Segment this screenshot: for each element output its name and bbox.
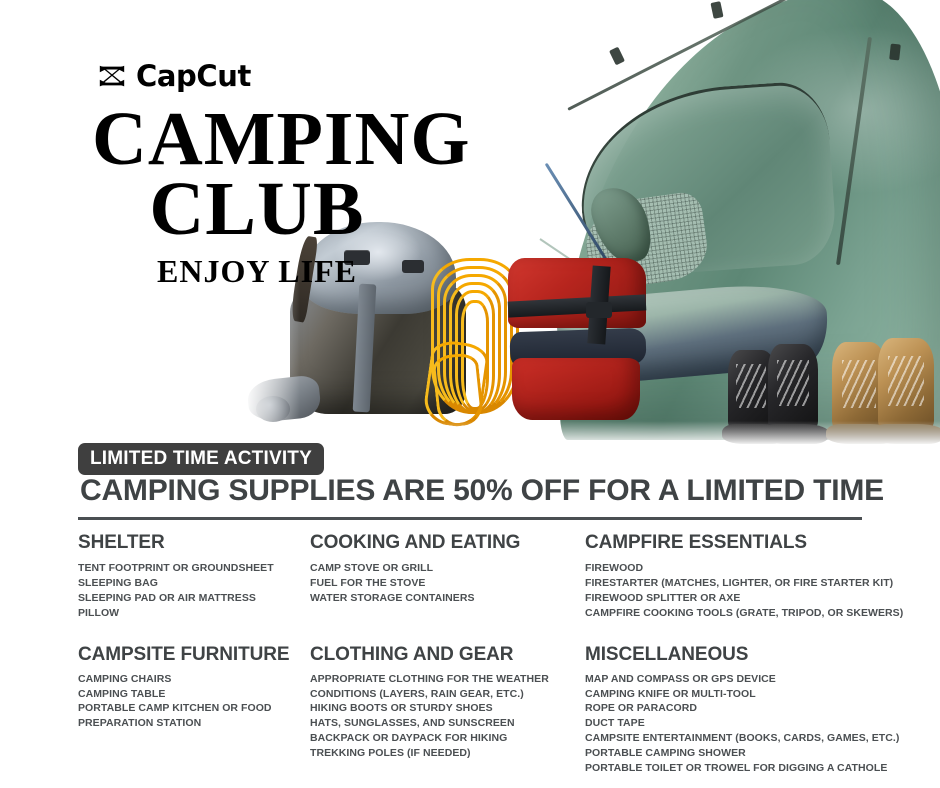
title-line-2: CLUB (92, 175, 422, 245)
boot-laces (777, 360, 809, 406)
list-item: SLEEPING PAD OR AIR MATTRESS (78, 591, 304, 606)
backpack-attached-gear (256, 396, 290, 422)
rope-loop (449, 282, 501, 414)
category-title: SHELTER (78, 533, 304, 552)
category-clothing-and-gear: CLOTHING AND GEAR APPROPRIATE CLOTHING F… (310, 645, 585, 776)
brand-lockup: CapCut (97, 61, 251, 91)
backpack-base-pad (246, 374, 322, 423)
category-cooking-and-eating: COOKING AND EATING CAMP STOVE OR GRILL F… (310, 533, 585, 621)
list-item: FIRESTARTER (MATCHES, LIGHTER, OR FIRE S… (585, 576, 862, 591)
backpack-compression-strap (353, 284, 377, 413)
boot-laces (736, 364, 766, 408)
boot-laces (842, 360, 876, 408)
divider (78, 517, 862, 520)
list-item: PILLOW (78, 606, 304, 621)
category-item-list: FIREWOOD FIRESTARTER (MATCHES, LIGHTER, … (585, 561, 862, 621)
category-campfire-essentials: CAMPFIRE ESSENTIALS FIREWOOD FIRESTARTER… (585, 533, 868, 621)
list-item: CAMP STOVE OR GRILL (310, 561, 579, 576)
tan-boot (878, 332, 940, 444)
list-item: FUEL FOR THE STOVE (310, 576, 579, 591)
tent-clip (889, 44, 901, 61)
list-item: HATS, SUNGLASSES, AND SUNSCREEN (310, 716, 579, 731)
tan-boot (832, 336, 894, 444)
category-item-list: CAMPING CHAIRS CAMPING TABLE PORTABLE CA… (78, 672, 304, 732)
duffel-clip (586, 302, 612, 318)
title-line-1: CAMPING (92, 105, 422, 175)
category-title: CAMPFIRE ESSENTIALS (585, 533, 862, 552)
rope-loop (461, 300, 489, 410)
list-item: FIREWOOD SPLITTER OR AXE (585, 591, 862, 606)
category-miscellaneous: MISCELLANEOUS MAP AND COMPASS OR GPS DEV… (585, 645, 868, 776)
list-item: CAMPING CHAIRS (78, 672, 304, 687)
category-title: CLOTHING AND GEAR (310, 645, 579, 664)
hiking-boots-image (728, 336, 938, 444)
list-item: WATER STORAGE CONTAINERS (310, 591, 579, 606)
boot-sole (872, 424, 940, 444)
hiking-backpack-image (290, 222, 470, 418)
list-item: CONDITIONS (LAYERS, RAIN GEAR, ETC.) (310, 687, 579, 702)
tent-door-flap (585, 180, 659, 270)
rope-loop (437, 266, 513, 414)
duffel-midsection (509, 328, 646, 369)
list-item: CAMPING TABLE (78, 687, 304, 702)
tent-floor (555, 278, 831, 387)
boot-sole (826, 424, 898, 444)
boot-laces (888, 356, 924, 406)
tent-image (560, 0, 940, 440)
page-title: CAMPING CLUB (92, 105, 422, 245)
rope-loop (431, 352, 484, 428)
supply-category-grid: SHELTER TENT FOOTPRINT OR GROUNDSHEET SL… (78, 533, 868, 776)
rope-loop (431, 258, 519, 414)
boot-shaft (832, 342, 886, 428)
tent-canopy (560, 0, 940, 440)
list-item: MAP AND COMPASS OR GPS DEVICE (585, 672, 862, 687)
list-item: APPROPRIATE CLOTHING FOR THE WEATHER (310, 672, 579, 687)
category-title: CAMPSITE FURNITURE (78, 645, 304, 664)
category-item-list: CAMP STOVE OR GRILL FUEL FOR THE STOVE W… (310, 561, 579, 606)
page-subtitle: ENJOY LIFE (92, 253, 422, 290)
rope-loop (421, 338, 490, 429)
camping-club-poster: CapCut CAMPING CLUB ENJOY LIFE LIMITED T… (0, 0, 940, 788)
brand-name: CapCut (136, 62, 251, 91)
backpack-body (290, 280, 466, 414)
list-item: PORTABLE CAMP KITCHEN OR FOOD (78, 701, 304, 716)
list-item: PORTABLE CAMPING SHOWER (585, 746, 862, 761)
tent-window-panel (574, 79, 838, 279)
list-item: DUCT TAPE (585, 716, 862, 731)
yellow-rope-coil-image (425, 258, 521, 422)
list-item: TENT FOOTPRINT OR GROUNDSHEET (78, 561, 304, 576)
list-item: BACKPACK OR DAYPACK FOR HIKING (310, 731, 579, 746)
tent-guy-line (539, 238, 598, 279)
list-item: CAMPING KNIFE OR MULTI-TOOL (585, 687, 862, 702)
list-item: FIREWOOD (585, 561, 862, 576)
black-boot (728, 342, 786, 444)
promo-headline: CAMPING SUPPLIES ARE 50% OFF FOR A LIMIT… (80, 474, 884, 508)
rope-loop (443, 274, 507, 414)
list-item: PORTABLE TOILET OR TROWEL FOR DIGGING A … (585, 761, 862, 776)
duffel-bottom (512, 358, 640, 420)
category-title: MISCELLANEOUS (585, 645, 862, 664)
boot-shaft (878, 338, 934, 428)
list-item: CAMPFIRE COOKING TOOLS (GRATE, TRIPOD, O… (585, 606, 862, 621)
boot-shaft (768, 344, 818, 428)
tent-ridge-seam (567, 0, 896, 111)
boot-shaft (728, 350, 776, 428)
tent-zipper (836, 37, 872, 265)
list-item: ROPE OR PARACORD (585, 701, 862, 716)
duffel-strap (508, 294, 647, 317)
tent-clip (710, 1, 723, 19)
tent-clip (609, 47, 625, 66)
category-item-list: MAP AND COMPASS OR GPS DEVICE CAMPING KN… (585, 672, 862, 776)
tent-pole (545, 163, 611, 266)
capcut-logo-icon (97, 61, 127, 91)
black-boot (768, 336, 826, 444)
category-item-list: TENT FOOTPRINT OR GROUNDSHEET SLEEPING B… (78, 561, 304, 621)
list-item: HIKING BOOTS OR STURDY SHOES (310, 701, 579, 716)
category-shelter: SHELTER TENT FOOTPRINT OR GROUNDSHEET SL… (78, 533, 310, 621)
red-duffel-bag-image (508, 258, 648, 420)
status-badge: LIMITED TIME ACTIVITY (78, 443, 324, 475)
list-item: TREKKING POLES (IF NEEDED) (310, 746, 579, 761)
category-title: COOKING AND EATING (310, 533, 579, 552)
list-item: SLEEPING BAG (78, 576, 304, 591)
duffel-top (508, 258, 646, 328)
duffel-strap (587, 265, 610, 344)
list-item: PREPARATION STATION (78, 716, 304, 731)
boot-sole (722, 424, 788, 444)
category-campsite-furniture: CAMPSITE FURNITURE CAMPING CHAIRS CAMPIN… (78, 645, 310, 776)
category-item-list: APPROPRIATE CLOTHING FOR THE WEATHER CON… (310, 672, 579, 761)
boot-sole (762, 424, 830, 444)
list-item: CAMPSITE ENTERTAINMENT (BOOKS, CARDS, GA… (585, 731, 862, 746)
tent-mesh-panel (581, 190, 712, 292)
rope-loop (455, 290, 495, 412)
